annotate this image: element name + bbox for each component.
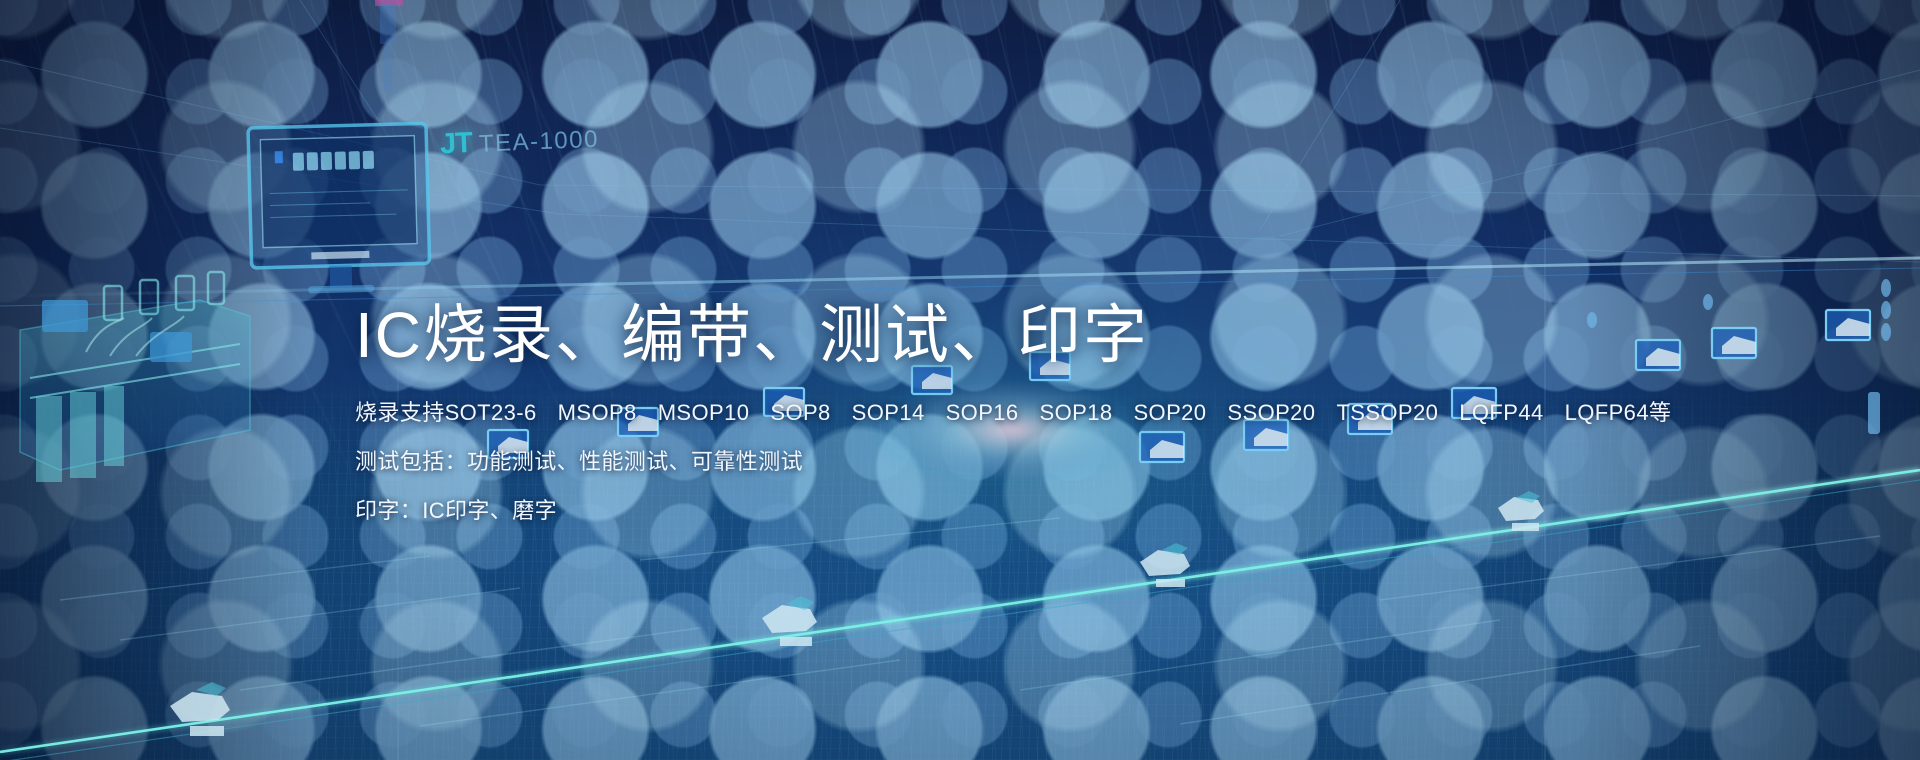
hero-copy-block: IC烧录、编带、测试、印字 烧录支持SOT23-6MSOP8MSOP10SOP8… <box>355 300 1605 522</box>
list-item-burn-support: 烧录支持SOT23-6MSOP8MSOP10SOP8SOP14SOP16SOP1… <box>355 402 1605 424</box>
package-name: SOP16 <box>946 400 1019 425</box>
package-name: SOP8 <box>770 400 830 425</box>
page-title: IC烧录、编带、测试、印字 <box>355 300 1605 372</box>
machine-assembly-left <box>20 272 250 482</box>
ceiling-structure-lines <box>0 0 1920 262</box>
package-name: MSOP10 <box>658 400 750 425</box>
package-name: MSOP8 <box>558 400 637 425</box>
brand-logo-text: JT <box>439 127 472 161</box>
package-chip-list: MSOP8MSOP10SOP8SOP14SOP16SOP18SOP20SSOP2… <box>537 400 1672 425</box>
rail-carriage <box>170 497 1544 736</box>
list-item-test-scope: 测试包括：功能测试、性能测试、可靠性测试 <box>355 451 1605 473</box>
package-name: SOP20 <box>1133 400 1206 425</box>
equipment-brand-mark: JT TEA-1000 <box>439 122 599 162</box>
floor-data-streaks <box>60 518 1880 726</box>
package-name: LQFP44 <box>1459 400 1543 425</box>
list-item-marking-scope: 印字：IC印字、磨字 <box>355 500 1605 522</box>
package-name: LQFP64等 <box>1565 400 1672 425</box>
package-name: TSSOP20 <box>1336 400 1438 425</box>
brand-model-text: TEA-1000 <box>478 126 599 159</box>
magenta-indicator <box>375 0 403 92</box>
ceiling-beams-texture <box>0 0 1920 334</box>
hero-banner: JT TEA-1000 IC烧录、编带、测试、印字 烧录支持SOT23-6MSO… <box>0 0 1920 760</box>
burn-support-prefix: 烧录支持SOT23-6 <box>355 400 537 425</box>
monitor-screen <box>248 123 430 295</box>
package-name: SOP18 <box>1040 400 1113 425</box>
package-name: SOP14 <box>852 400 925 425</box>
service-detail-list: 烧录支持SOT23-6MSOP8MSOP10SOP8SOP14SOP16SOP1… <box>355 402 1605 522</box>
package-name: SSOP20 <box>1227 400 1315 425</box>
